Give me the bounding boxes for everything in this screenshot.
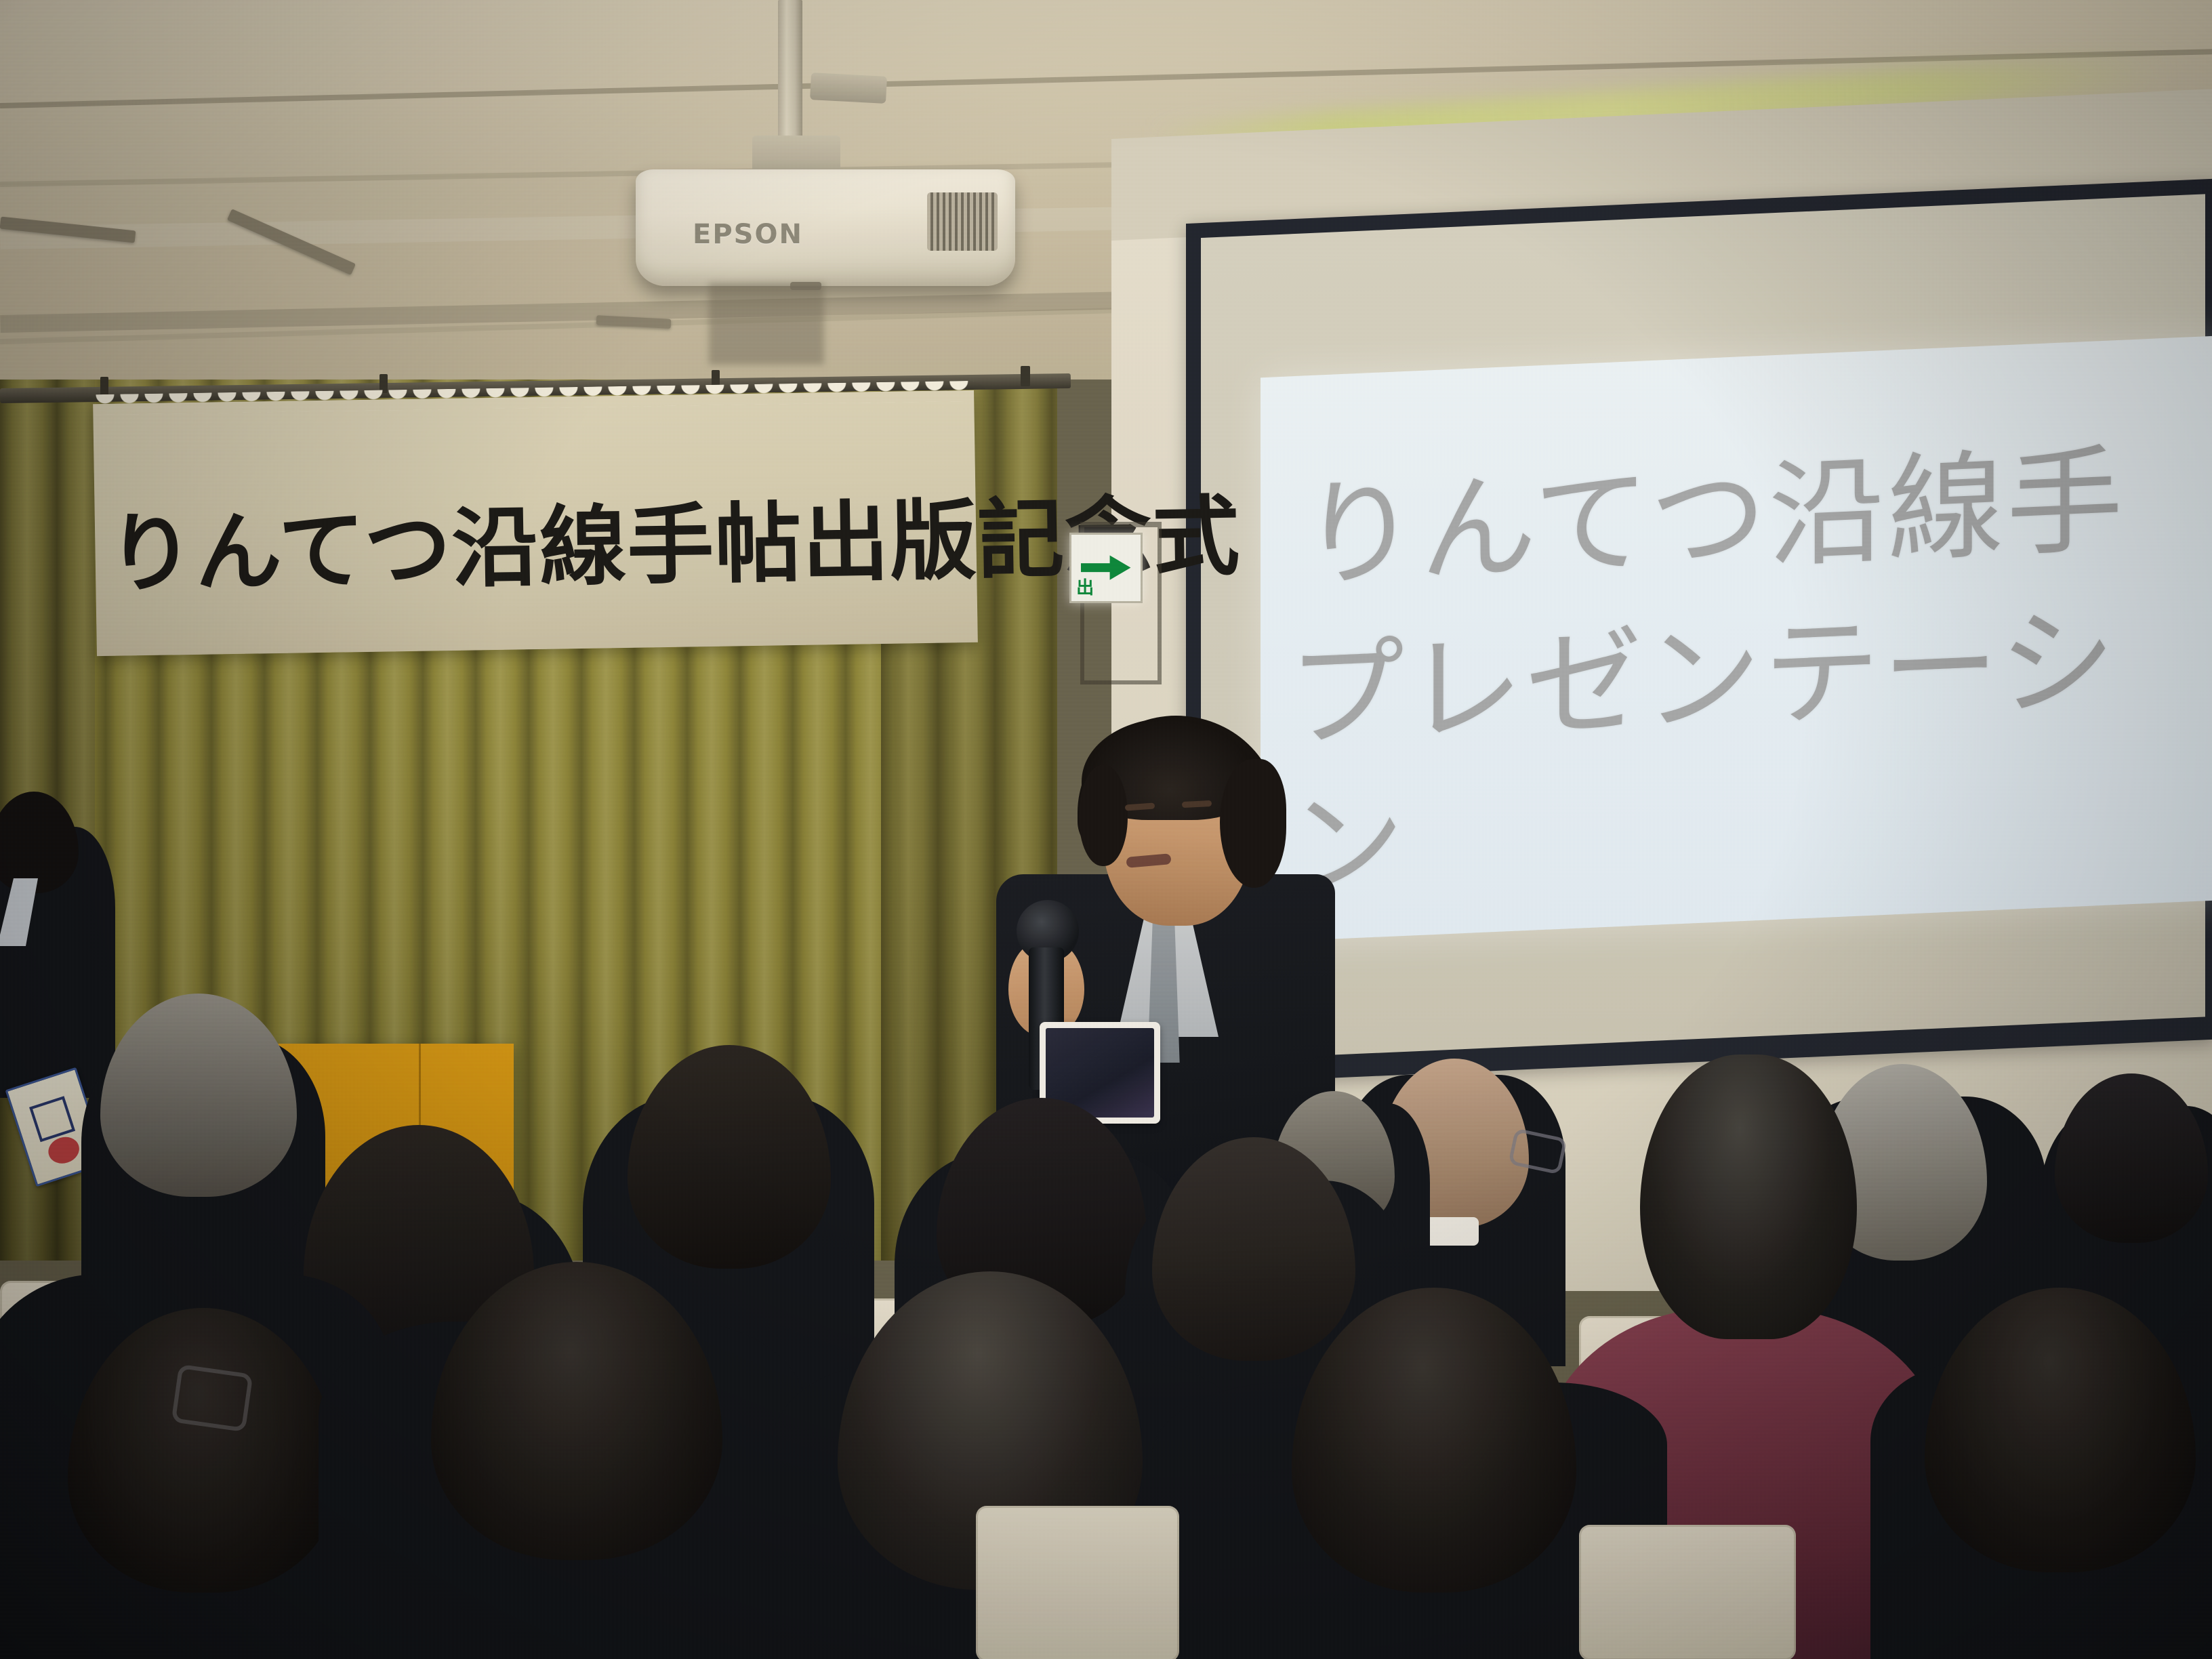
- projector-vent-grille: [927, 192, 998, 251]
- projector-mount-arm: [810, 73, 887, 104]
- projected-slide: りんてつ沿線手 プレゼンテーシ ン: [1261, 336, 2212, 943]
- eyeglasses-icon: [171, 1364, 253, 1432]
- event-banner: りんてつ沿線手帖出版記念式: [93, 390, 978, 656]
- projector-mount-pole: [778, 0, 802, 146]
- speaker-hair-side: [1220, 759, 1286, 888]
- curtain-hook: [100, 377, 108, 396]
- emergency-exit-sign: 出: [1069, 533, 1143, 603]
- exit-arrow-right-icon: [1081, 554, 1130, 581]
- chair-back: [976, 1506, 1179, 1659]
- epson-projector: EPSON: [636, 169, 1015, 286]
- exit-sign-label: 出: [1076, 579, 1094, 597]
- projection-screen-frame: りんてつ沿線手 プレゼンテーシ ン: [1186, 179, 2212, 1084]
- projector-brand-label: EPSON: [693, 221, 803, 248]
- audience-updo-head: [1640, 1054, 1857, 1339]
- event-photograph: EPSON りんてつ沿線手 プレゼンテーシ ン りんてつ沿線手帖出版記念式: [0, 0, 2212, 1659]
- slide-line-2: プレゼンテーシ: [1288, 565, 2118, 771]
- projector-shadow: [709, 283, 824, 365]
- speaker-hair-side: [1079, 764, 1128, 866]
- badge-character-mark: [29, 1096, 75, 1143]
- curtain-hook: [1021, 366, 1030, 386]
- chair-back: [1579, 1525, 1796, 1659]
